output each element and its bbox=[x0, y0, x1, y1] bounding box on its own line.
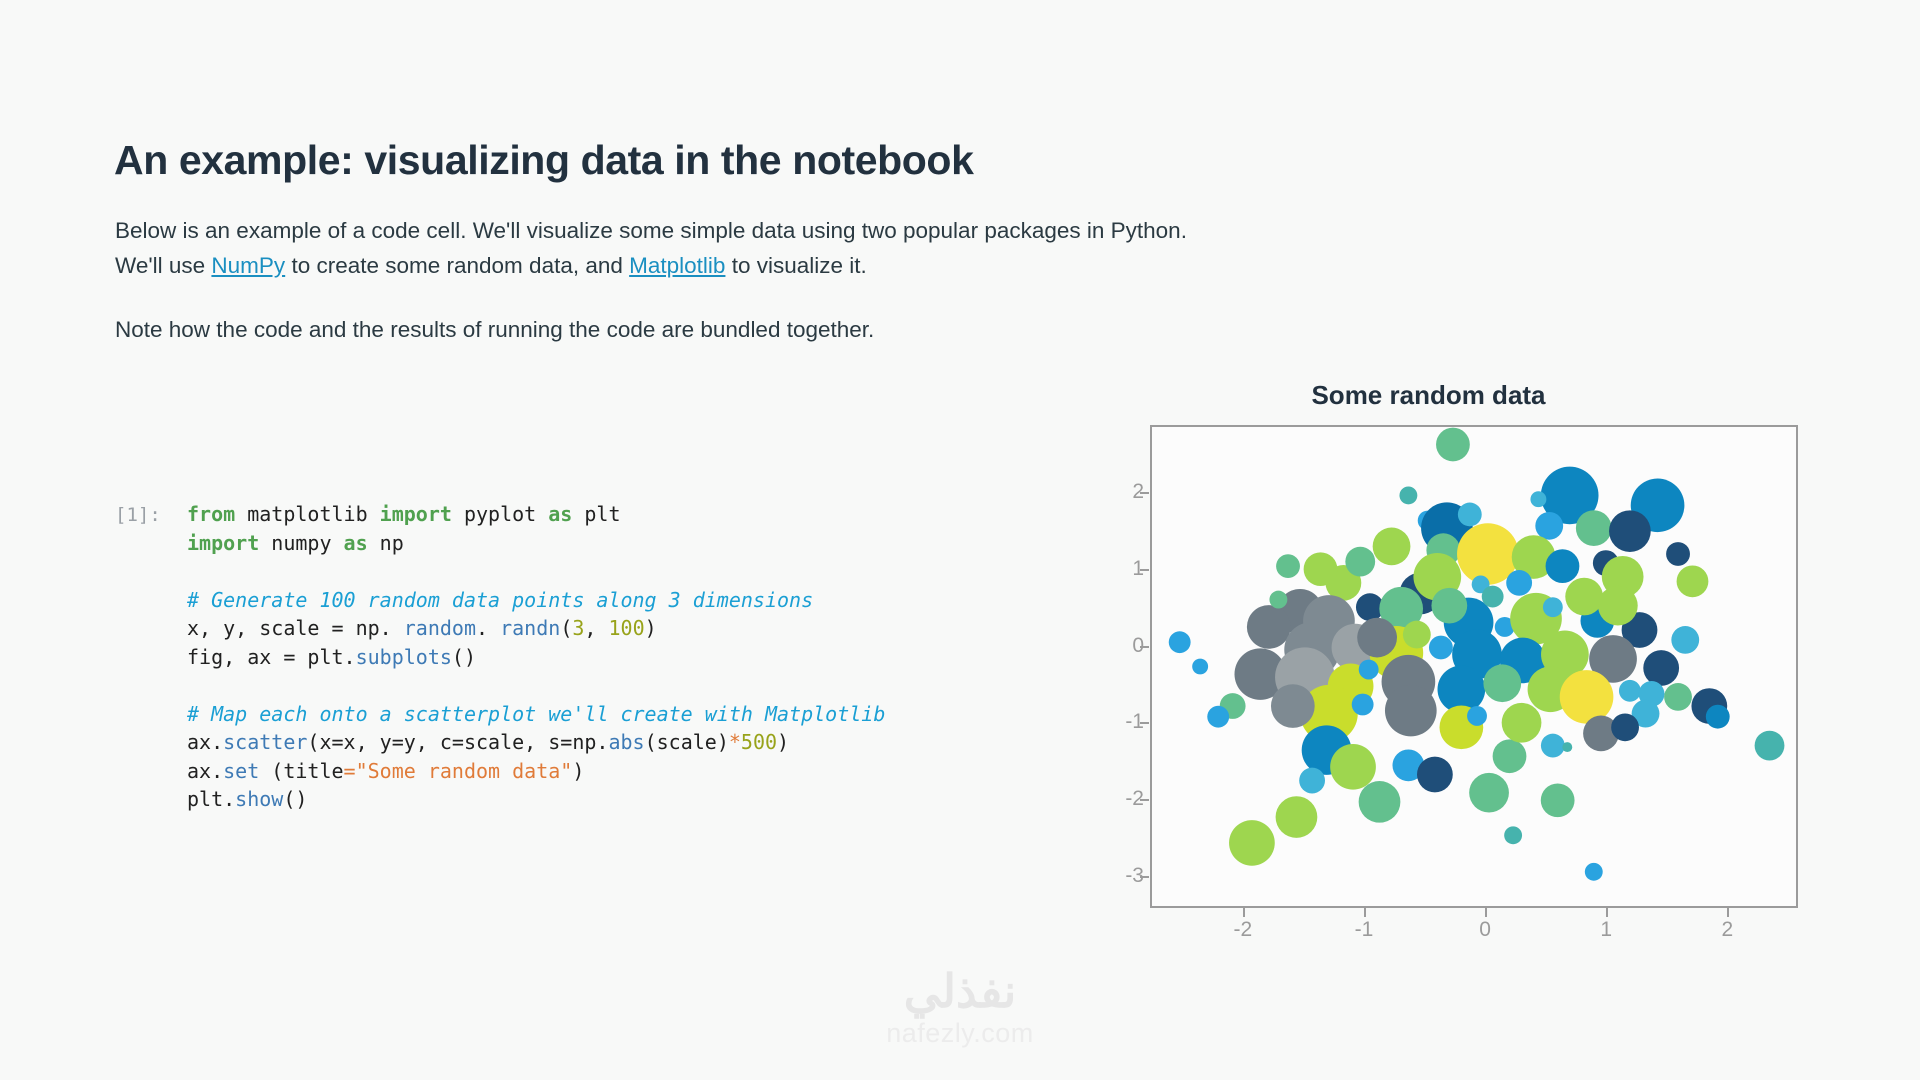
scatter-chart: Some random data 210-1-2-3-2-1012 bbox=[1060, 380, 1860, 940]
code-source[interactable]: from matplotlib import pyplot as pltimpo… bbox=[187, 500, 885, 814]
scatter-point bbox=[1269, 591, 1287, 609]
code-token: scatter bbox=[223, 730, 307, 754]
code-token: ) bbox=[777, 730, 789, 754]
scatter-point bbox=[1458, 503, 1482, 527]
scatter-point bbox=[1229, 820, 1275, 866]
code-token: () bbox=[283, 787, 307, 811]
code-line: from matplotlib import pyplot as plt bbox=[187, 500, 885, 529]
watermark: نفذلي nafezly.com bbox=[0, 965, 1920, 1049]
x-axis-tick-mark bbox=[1364, 908, 1366, 917]
code-line: ax.scatter(x=x, y=y, c=scale, s=np.abs(s… bbox=[187, 728, 885, 757]
note-paragraph: Note how the code and the results of run… bbox=[115, 312, 874, 347]
scatter-point bbox=[1562, 742, 1572, 752]
scatter-point bbox=[1504, 826, 1522, 844]
x-axis-tick-mark bbox=[1727, 908, 1729, 917]
x-axis-tick-label: 1 bbox=[1586, 918, 1626, 942]
scatter-point bbox=[1429, 636, 1453, 660]
y-axis-tick-label: 0 bbox=[1104, 634, 1144, 658]
code-token: as bbox=[344, 531, 368, 555]
code-token: matplotlib bbox=[235, 502, 380, 526]
scatter-point bbox=[1598, 586, 1638, 626]
code-line: ax.set (title="Some random data") bbox=[187, 757, 885, 786]
plot-area bbox=[1150, 425, 1798, 908]
intro-paragraph: Below is an example of a code cell. We'l… bbox=[115, 213, 1187, 283]
code-prompt-label: [1]: bbox=[115, 504, 161, 526]
code-token: ax. bbox=[187, 730, 223, 754]
scatter-point bbox=[1619, 680, 1641, 702]
y-axis-tick-label: -2 bbox=[1104, 787, 1144, 811]
intro-line-2-prefix: We'll use bbox=[115, 253, 211, 278]
scatter-point bbox=[1543, 597, 1563, 617]
code-token: . bbox=[476, 616, 500, 640]
scatter-point bbox=[1609, 510, 1651, 552]
code-token: 100 bbox=[609, 616, 645, 640]
code-token: import bbox=[187, 531, 259, 555]
y-axis-tick-mark bbox=[1140, 799, 1149, 801]
code-token: x, y, scale = np. bbox=[187, 616, 404, 640]
code-line: import numpy as np bbox=[187, 529, 885, 558]
scatter-point bbox=[1576, 510, 1612, 546]
scatter-point bbox=[1352, 694, 1374, 716]
code-token: random bbox=[404, 616, 476, 640]
scatter-point bbox=[1359, 660, 1379, 680]
scatter-point bbox=[1502, 703, 1542, 743]
y-axis-tick-label: 2 bbox=[1104, 480, 1144, 504]
code-token: = bbox=[344, 759, 356, 783]
code-token: , bbox=[584, 616, 608, 640]
scatter-point bbox=[1385, 685, 1437, 737]
scatter-point bbox=[1276, 796, 1318, 838]
scatter-point bbox=[1664, 683, 1692, 711]
x-axis-tick-label: -2 bbox=[1223, 918, 1263, 942]
scatter-point bbox=[1192, 659, 1208, 675]
scatter-point bbox=[1436, 428, 1470, 462]
code-token: subplots bbox=[356, 645, 452, 669]
scatter-point bbox=[1541, 734, 1565, 758]
scatter-point bbox=[1643, 650, 1679, 686]
scatter-point bbox=[1565, 578, 1603, 616]
code-token: (scale) bbox=[645, 730, 729, 754]
code-token: show bbox=[235, 787, 283, 811]
scatter-point bbox=[1482, 586, 1504, 608]
code-line bbox=[187, 557, 885, 586]
code-token: () bbox=[452, 645, 476, 669]
page-title: An example: visualizing data in the note… bbox=[114, 137, 973, 184]
scatter-point bbox=[1671, 626, 1699, 654]
scatter-point bbox=[1357, 618, 1397, 658]
scatter-point bbox=[1247, 605, 1291, 649]
code-token: from bbox=[187, 502, 235, 526]
slide-canvas: An example: visualizing data in the note… bbox=[0, 0, 1920, 1080]
intro-line-2-suffix: to visualize it. bbox=[725, 253, 866, 278]
code-line: # Generate 100 random data points along … bbox=[187, 586, 885, 615]
code-token: 3 bbox=[572, 616, 584, 640]
y-axis-tick-mark bbox=[1140, 876, 1149, 878]
code-token: * bbox=[729, 730, 741, 754]
scatter-points-layer bbox=[1152, 427, 1796, 906]
code-token: (x=x, y=y, c=scale, s=np. bbox=[307, 730, 608, 754]
code-token: pyplot bbox=[452, 502, 548, 526]
scatter-point bbox=[1271, 684, 1315, 728]
scatter-point bbox=[1546, 549, 1580, 583]
code-token: plt. bbox=[187, 787, 235, 811]
x-axis-tick-label: 2 bbox=[1707, 918, 1747, 942]
code-token: import bbox=[380, 502, 452, 526]
y-axis-tick-mark bbox=[1140, 722, 1149, 724]
code-token: ( bbox=[560, 616, 572, 640]
scatter-point bbox=[1585, 863, 1603, 881]
scatter-point bbox=[1755, 731, 1785, 761]
scatter-point bbox=[1276, 554, 1300, 578]
x-axis-tick-mark bbox=[1606, 908, 1608, 917]
scatter-point bbox=[1467, 706, 1487, 726]
x-axis-tick-mark bbox=[1243, 908, 1245, 917]
scatter-point bbox=[1493, 739, 1527, 773]
code-line: fig, ax = plt.subplots() bbox=[187, 643, 885, 672]
scatter-point bbox=[1483, 664, 1521, 702]
code-token: # Generate 100 random data points along … bbox=[187, 588, 813, 612]
matplotlib-link[interactable]: Matplotlib bbox=[629, 253, 725, 278]
x-axis-tick-mark bbox=[1485, 908, 1487, 917]
scatter-point bbox=[1207, 706, 1229, 728]
scatter-point bbox=[1560, 670, 1614, 724]
x-axis-tick-label: 0 bbox=[1465, 918, 1505, 942]
scatter-point bbox=[1506, 570, 1532, 596]
code-token: 500 bbox=[741, 730, 777, 754]
intro-line-2-middle: to create some random data, and bbox=[285, 253, 629, 278]
watermark-url: nafezly.com bbox=[0, 1017, 1920, 1049]
scatter-point bbox=[1399, 487, 1417, 505]
scatter-point bbox=[1431, 588, 1467, 624]
y-axis-tick-label: -3 bbox=[1104, 864, 1144, 888]
code-token: (title bbox=[259, 759, 343, 783]
y-axis-tick-mark bbox=[1140, 492, 1149, 494]
y-axis-tick-mark bbox=[1140, 569, 1149, 571]
code-token: ) bbox=[645, 616, 657, 640]
scatter-point bbox=[1706, 705, 1730, 729]
code-line: plt.show() bbox=[187, 785, 885, 814]
code-token: randn bbox=[500, 616, 560, 640]
scatter-point bbox=[1304, 552, 1338, 586]
scatter-point bbox=[1169, 631, 1191, 653]
code-token: plt bbox=[572, 502, 620, 526]
scatter-point bbox=[1299, 768, 1325, 794]
scatter-point bbox=[1330, 744, 1376, 790]
scatter-point bbox=[1345, 547, 1375, 577]
scatter-point bbox=[1403, 621, 1431, 649]
code-token: abs bbox=[608, 730, 644, 754]
scatter-point bbox=[1359, 781, 1401, 823]
code-token: # Map each onto a scatterplot we'll crea… bbox=[187, 702, 885, 726]
code-token: fig, ax = plt. bbox=[187, 645, 356, 669]
chart-title: Some random data bbox=[1060, 380, 1797, 411]
code-token: set bbox=[223, 759, 259, 783]
scatter-point bbox=[1530, 491, 1546, 507]
scatter-point bbox=[1677, 565, 1709, 597]
code-token: ax. bbox=[187, 759, 223, 783]
code-line bbox=[187, 671, 885, 700]
y-axis-tick-mark bbox=[1140, 646, 1149, 648]
scatter-point bbox=[1417, 757, 1453, 793]
y-axis-tick-label: -1 bbox=[1104, 710, 1144, 734]
x-axis-tick-label: -1 bbox=[1344, 918, 1384, 942]
scatter-point bbox=[1666, 542, 1690, 566]
scatter-point bbox=[1373, 528, 1411, 566]
watermark-arabic: نفذلي bbox=[0, 965, 1920, 1017]
scatter-point bbox=[1611, 713, 1639, 741]
scatter-point bbox=[1469, 773, 1509, 813]
code-line: x, y, scale = np. random. randn(3, 100) bbox=[187, 614, 885, 643]
code-token: ) bbox=[572, 759, 584, 783]
numpy-link[interactable]: NumPy bbox=[211, 253, 285, 278]
code-token: numpy bbox=[259, 531, 343, 555]
scatter-point bbox=[1541, 783, 1575, 817]
intro-line-1: Below is an example of a code cell. We'l… bbox=[115, 218, 1187, 243]
code-token: "Some random data" bbox=[356, 759, 573, 783]
y-axis-tick-label: 1 bbox=[1104, 557, 1144, 581]
code-token: as bbox=[548, 502, 572, 526]
scatter-point bbox=[1535, 512, 1563, 540]
code-line: # Map each onto a scatterplot we'll crea… bbox=[187, 700, 885, 729]
code-token: np bbox=[368, 531, 404, 555]
